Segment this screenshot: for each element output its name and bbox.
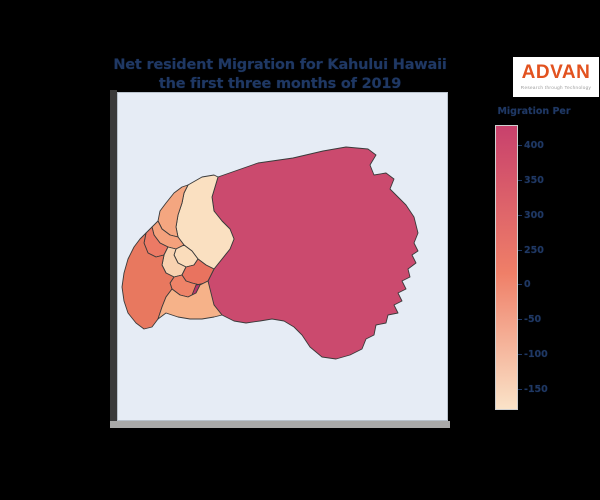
legend-tick: -150 [518, 383, 548, 395]
legend-tick: 250 [518, 244, 544, 256]
legend-tick-dash-icon [518, 250, 522, 251]
legend-tick-label: 250 [524, 245, 544, 256]
map-panel-bottom-edge [110, 421, 450, 428]
map-panel-left-edge [110, 90, 117, 428]
legend-tick-dash-icon [518, 284, 522, 285]
legend: Migration Per 4003503002500-50-100-150 [482, 106, 600, 416]
legend-tick-label: 350 [524, 175, 544, 186]
legend-tick-dash-icon [518, 145, 522, 146]
legend-tick-label: 400 [524, 140, 544, 151]
legend-tick-dash-icon [518, 354, 522, 355]
map-panel [110, 90, 450, 428]
legend-tick-label: -50 [524, 314, 541, 325]
legend-tick-dash-icon [518, 180, 522, 181]
legend-tick-list: 4003503002500-50-100-150 [518, 125, 598, 410]
legend-tick-dash-icon [518, 319, 522, 320]
legend-tick: -100 [518, 348, 548, 360]
legend-tick-dash-icon [518, 215, 522, 216]
legend-tick-label: 300 [524, 210, 544, 221]
legend-tick: -50 [518, 314, 541, 326]
legend-tick: 350 [518, 175, 544, 187]
legend-tick: 0 [518, 279, 531, 291]
region-east-maui-main[interactable] [208, 147, 418, 359]
legend-tick-dash-icon [518, 389, 522, 390]
legend-tick: 300 [518, 209, 544, 221]
page-title-line-1: Net resident Migration for Kahului Hawai… [100, 56, 460, 75]
advan-logo-wordmark: ADVAN [522, 63, 591, 83]
advan-logo-tagline: Research through Technology [521, 84, 591, 91]
choropleth-map [117, 92, 448, 421]
legend-tick-label: -150 [524, 384, 548, 395]
advan-logo: ADVAN Research through Technology [513, 57, 599, 97]
map-svg [118, 93, 448, 421]
legend-colorbar [495, 125, 518, 410]
legend-tick-label: -100 [524, 349, 548, 360]
figure-root: Net resident Migration for Kahului Hawai… [0, 0, 600, 500]
page-title: Net resident Migration for Kahului Hawai… [100, 56, 460, 94]
legend-title: Migration Per [482, 106, 586, 117]
legend-tick: 400 [518, 140, 544, 152]
legend-tick-label: 0 [524, 279, 531, 290]
